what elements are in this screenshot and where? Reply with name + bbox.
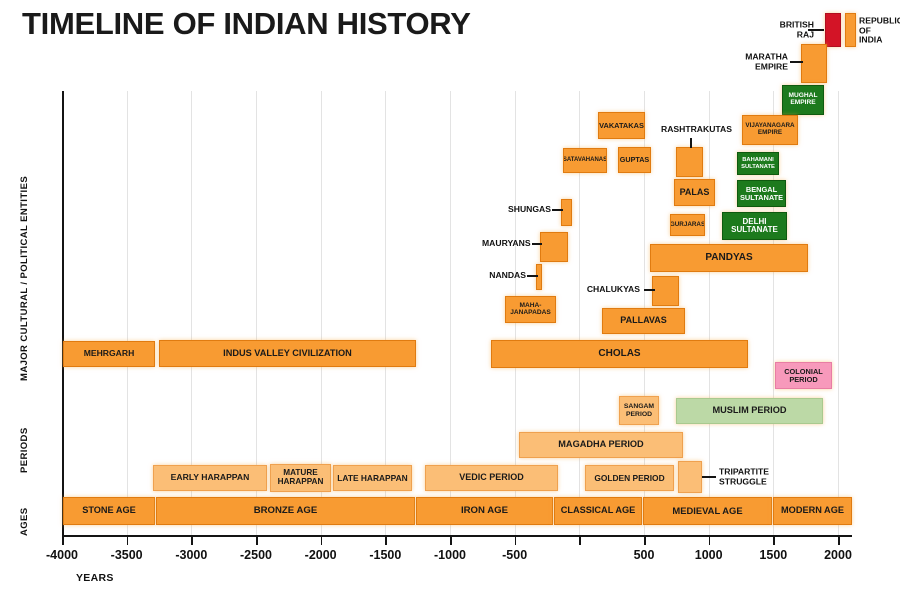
x-axis-tick-label: -500 bbox=[502, 548, 527, 562]
x-axis-tick bbox=[644, 536, 646, 545]
bar-magadha-period[interactable]: MAGADHA PERIOD bbox=[519, 432, 683, 458]
row-label-entities: MAJOR CULTURAL / POLITICAL ENTITIES bbox=[19, 176, 30, 381]
bar-label: BRONZE AGE bbox=[252, 506, 320, 516]
bar-label: SATAVAHANAS bbox=[563, 157, 607, 163]
bar-gurjaras[interactable]: GURJARAS bbox=[670, 214, 705, 236]
bar-late-harappan[interactable]: LATE HARAPPAN bbox=[333, 465, 412, 491]
callout-leader-rashtrakutas bbox=[690, 138, 692, 148]
x-axis-line bbox=[62, 535, 852, 537]
bar-tripartite-struggle[interactable] bbox=[678, 461, 702, 493]
row-label-periods: PERIODS bbox=[19, 427, 30, 473]
callout-label-mauryans: MAURYANS bbox=[482, 239, 530, 249]
bar-label: MEHRGARH bbox=[82, 349, 137, 358]
bar-colonial-period[interactable]: COLONIAL PERIOD bbox=[775, 362, 832, 389]
x-axis-tick-label: -3000 bbox=[175, 548, 207, 562]
x-axis-tick bbox=[450, 536, 452, 545]
callout-leader-tripartite-struggle bbox=[702, 476, 716, 478]
bar-golden-period[interactable]: GOLDEN PERIOD bbox=[585, 465, 674, 491]
bar-bahamani-sultanate[interactable]: BAHAMANI SULTANATE bbox=[737, 152, 779, 175]
callout-label-rashtrakutas: RASHTRAKUTAS bbox=[661, 125, 719, 135]
bar-shungas[interactable] bbox=[561, 199, 572, 226]
callout-label-chalukyas: CHALUKYAS bbox=[586, 285, 640, 295]
bar-label: SANGAM PERIOD bbox=[622, 403, 656, 417]
bar-label: MODERN AGE bbox=[779, 506, 846, 516]
bar-pandyas[interactable]: PANDYAS bbox=[650, 244, 808, 272]
x-axis-tick bbox=[709, 536, 711, 545]
bar-cholas[interactable]: CHOLAS bbox=[491, 340, 748, 368]
bar-medieval-age[interactable]: MEDIEVAL AGE bbox=[643, 497, 772, 525]
bar-label: VIJAYANAGARA EMPIRE bbox=[743, 123, 797, 136]
bar-sangam-period[interactable]: SANGAM PERIOD bbox=[619, 396, 659, 425]
bar-label: MUSLIM PERIOD bbox=[710, 406, 788, 416]
gridline bbox=[709, 91, 710, 535]
x-axis-tick-label: -3500 bbox=[111, 548, 143, 562]
bar-chalukyas[interactable] bbox=[652, 276, 679, 306]
bar-early-harappan[interactable]: EARLY HARAPPAN bbox=[153, 465, 267, 491]
bar-bronze-age[interactable]: BRONZE AGE bbox=[156, 497, 415, 525]
bar-vijayanagara-empire[interactable]: VIJAYANAGARA EMPIRE bbox=[742, 115, 798, 145]
x-axis-tick-label: -2000 bbox=[305, 548, 337, 562]
bar-label: MUGHAL EMPIRE bbox=[783, 93, 823, 107]
x-axis-tick-label: 2000 bbox=[824, 548, 852, 562]
x-axis-tick-label: 1000 bbox=[695, 548, 723, 562]
bar-label: CLASSICAL AGE bbox=[559, 506, 638, 516]
bar-maratha-empire[interactable] bbox=[801, 44, 827, 83]
bar-iron-age[interactable]: IRON AGE bbox=[416, 497, 553, 525]
x-axis-tick bbox=[191, 536, 193, 545]
callout-label-republic-of-india: REPUBLIC OF INDIA bbox=[859, 17, 899, 46]
x-axis-tick bbox=[127, 536, 129, 545]
bar-label: MATURE HARAPPAN bbox=[276, 469, 326, 486]
bar-label: PALAS bbox=[678, 188, 712, 197]
bar-mughal-empire[interactable]: MUGHAL EMPIRE bbox=[782, 85, 824, 115]
callout-label-nandas: NANDAS bbox=[488, 271, 526, 281]
bar-label: DELHI SULTANATE bbox=[723, 218, 786, 235]
years-axis-caption: YEARS bbox=[76, 572, 114, 584]
x-axis-tick-label: -4000 bbox=[46, 548, 78, 562]
bar-label: COLONIAL PERIOD bbox=[782, 368, 825, 384]
x-axis-tick bbox=[773, 536, 775, 545]
bar-vedic-period[interactable]: VEDIC PERIOD bbox=[425, 465, 558, 491]
bar-label: INDUS VALLEY CIVILIZATION bbox=[221, 349, 354, 359]
x-axis-tick bbox=[838, 536, 840, 545]
bar-label: CHOLAS bbox=[596, 349, 642, 360]
bar-label: MAGADHA PERIOD bbox=[556, 440, 645, 450]
bar-mauryans[interactable] bbox=[540, 232, 568, 262]
gridline bbox=[838, 91, 839, 535]
timeline-plot: -4000-3500-3000-2500-2000-1500-1000-5005… bbox=[0, 0, 900, 606]
callout-leader-british-raj bbox=[808, 29, 824, 31]
x-axis-tick bbox=[321, 536, 323, 545]
bar-label: GOLDEN PERIOD bbox=[592, 474, 666, 483]
x-axis-tick bbox=[579, 536, 581, 545]
bar-rashtrakutas[interactable] bbox=[676, 147, 703, 177]
bar-palas[interactable]: PALAS bbox=[674, 179, 715, 206]
timeline-infographic: TIMELINE OF INDIAN HISTORY -4000-3500-30… bbox=[0, 0, 900, 606]
x-axis-tick-label: -2500 bbox=[240, 548, 272, 562]
bar-pallavas[interactable]: PALLAVAS bbox=[602, 308, 685, 334]
bar-stone-age[interactable]: STONE AGE bbox=[63, 497, 155, 525]
x-axis-tick-label: -1000 bbox=[434, 548, 466, 562]
bar-label: STONE AGE bbox=[80, 506, 138, 516]
bar-vakatakas[interactable]: VAKATAKAS bbox=[598, 112, 645, 139]
bar-label: GURJARAS bbox=[670, 222, 705, 229]
bar-label: PALLAVAS bbox=[618, 316, 669, 325]
bar-label: EARLY HARAPPAN bbox=[169, 473, 252, 482]
gridline bbox=[127, 91, 128, 535]
bar-label: MEDIEVAL AGE bbox=[670, 506, 744, 516]
bar-british-raj[interactable] bbox=[825, 13, 841, 47]
callout-leader-shungas bbox=[552, 209, 563, 211]
bar-classical-age[interactable]: CLASSICAL AGE bbox=[554, 497, 642, 525]
x-axis-tick bbox=[256, 536, 258, 545]
callout-label-tripartite-struggle: TRIPARTITE STRUGGLE bbox=[719, 467, 771, 486]
bar-label: IRON AGE bbox=[459, 506, 510, 516]
callout-leader-mauryans bbox=[532, 243, 542, 245]
callout-leader-nandas bbox=[527, 275, 538, 277]
bar-label: LATE HARAPPAN bbox=[335, 474, 409, 483]
bar-bengal-sultanate[interactable]: BENGAL SULTANATE bbox=[737, 180, 786, 207]
bar-muslim-period[interactable]: MUSLIM PERIOD bbox=[676, 398, 823, 424]
bar-indus-valley-civilization[interactable]: INDUS VALLEY CIVILIZATION bbox=[159, 340, 416, 367]
y-axis-line bbox=[62, 91, 64, 535]
x-axis-tick bbox=[515, 536, 517, 545]
bar-mehrgarh[interactable]: MEHRGARH bbox=[63, 341, 155, 367]
bar-guptas[interactable]: GUPTAS bbox=[618, 147, 651, 173]
bar-mature-harappan[interactable]: MATURE HARAPPAN bbox=[270, 464, 331, 492]
bar-label: VAKATAKAS bbox=[598, 122, 645, 130]
x-axis-tick-label: 500 bbox=[634, 548, 655, 562]
x-axis-tick-label: -1500 bbox=[369, 548, 401, 562]
callout-leader-maratha-empire bbox=[790, 61, 803, 63]
bar-republic-of-india[interactable] bbox=[845, 13, 856, 47]
bar-delhi-sultanate[interactable]: DELHI SULTANATE bbox=[722, 212, 787, 240]
bar-label: BENGAL SULTANATE bbox=[738, 186, 785, 202]
row-label-ages: AGES bbox=[19, 507, 30, 536]
x-axis-tick bbox=[62, 536, 64, 545]
bar-modern-age[interactable]: MODERN AGE bbox=[773, 497, 852, 525]
bar-label: VEDIC PERIOD bbox=[457, 473, 526, 482]
bar-label: GUPTAS bbox=[618, 156, 651, 164]
x-axis-tick bbox=[385, 536, 387, 545]
bar-label: BAHAMANI SULTANATE bbox=[738, 157, 778, 169]
x-axis-tick-label: 1500 bbox=[759, 548, 787, 562]
bar-label: MAHA- JANAPADAS bbox=[508, 303, 553, 317]
bar-nandas[interactable] bbox=[536, 264, 542, 290]
callout-leader-chalukyas bbox=[644, 289, 655, 291]
callout-label-shungas: SHUNGAS bbox=[508, 205, 550, 215]
bar-maha-janapadas[interactable]: MAHA- JANAPADAS bbox=[505, 296, 556, 323]
bar-satavahanas[interactable]: SATAVAHANAS bbox=[563, 148, 607, 173]
callout-label-maratha-empire: MARATHA EMPIRE bbox=[744, 52, 788, 71]
bar-label: PANDYAS bbox=[703, 253, 754, 264]
